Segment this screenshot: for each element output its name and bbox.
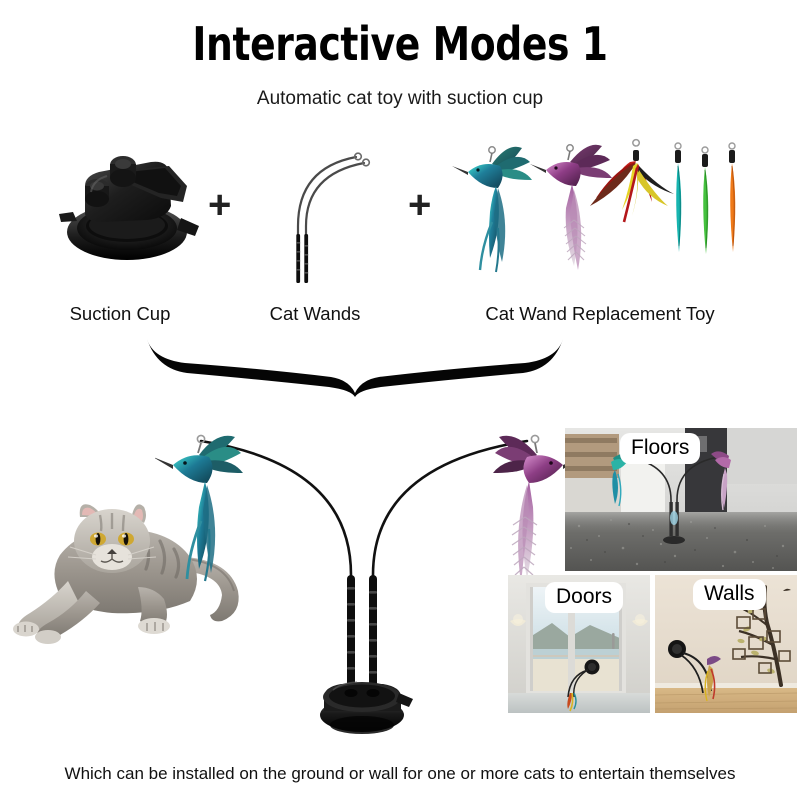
plus-icon-2: + xyxy=(408,185,431,225)
page-subtitle: Automatic cat toy with suction cup xyxy=(0,88,800,110)
scene-label-doors: Doors xyxy=(545,582,623,613)
brace-divider xyxy=(145,335,565,397)
component-label-cat-wands: Cat Wands xyxy=(225,303,405,325)
component-label-replacement-toy: Cat Wand Replacement Toy xyxy=(430,303,770,325)
scene-label-walls: Walls xyxy=(693,579,766,610)
suction-cup-image xyxy=(55,140,205,265)
plus-icon-1: + xyxy=(208,185,231,225)
footer-caption: Which can be installed on the ground or … xyxy=(0,764,800,784)
component-label-suction-cup: Suction Cup xyxy=(30,303,210,325)
replacement-toys-image xyxy=(452,136,752,286)
scene-label-floors: Floors xyxy=(620,433,700,464)
suction-cup-base xyxy=(320,682,413,734)
cat-wands-image xyxy=(278,138,388,283)
page-title: Interactive Modes 1 xyxy=(72,20,728,68)
